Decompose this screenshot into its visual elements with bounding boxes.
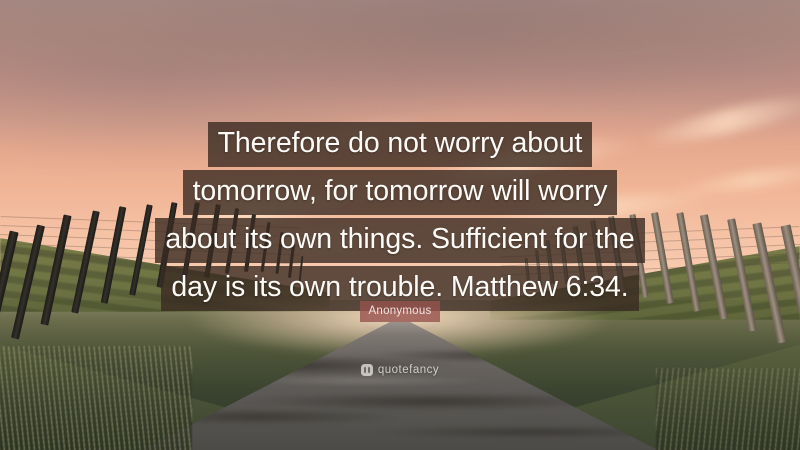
quotefancy-badge-icon bbox=[361, 364, 373, 376]
quote-text-block: Therefore do not worry about tomorrow, f… bbox=[0, 122, 800, 314]
quote-line: about its own things. Sufficient for the bbox=[155, 218, 644, 263]
quote-image-canvas: Therefore do not worry about tomorrow, f… bbox=[0, 0, 800, 450]
tall-grass-left bbox=[0, 346, 192, 450]
attribution-row: Anonymous bbox=[0, 301, 800, 322]
watermark-label: quotefancy bbox=[378, 364, 439, 376]
tall-grass-right bbox=[656, 368, 800, 450]
quote-author-badge: Anonymous bbox=[360, 301, 441, 322]
quote-line: tomorrow, for tomorrow will worry bbox=[183, 170, 618, 215]
watermark: quotefancy bbox=[0, 364, 800, 376]
quote-line: Therefore do not worry about bbox=[208, 122, 593, 167]
